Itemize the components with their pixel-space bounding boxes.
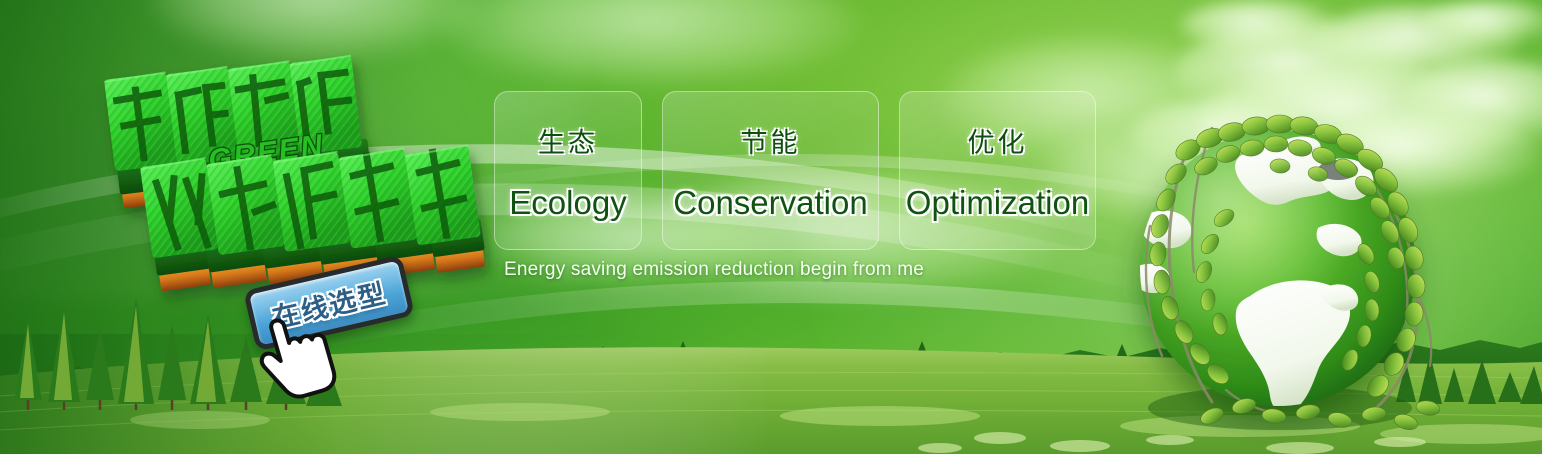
feature-card-optimization-cn: 优化 [968, 121, 1028, 160]
feature-card-ecology-cn: 生态 [538, 121, 598, 160]
feature-card-ecology[interactable]: 生态 Ecology [494, 91, 642, 250]
headline-3d-artwork: GREEN [96, 34, 496, 284]
leafy-green-globe-icon [1128, 108, 1458, 438]
feature-card-optimization-en: Optimization [906, 184, 1089, 222]
feature-card-ecology-en: Ecology [509, 184, 626, 222]
feature-card-conservation-cn: 节能 [741, 121, 801, 160]
feature-card-conservation[interactable]: 节能 Conservation [662, 91, 879, 250]
eco-promo-banner: GREEN [0, 0, 1542, 454]
feature-card-conservation-en: Conservation [673, 184, 867, 222]
feature-card-optimization[interactable]: 优化 Optimization [899, 91, 1096, 250]
feature-cards: 生态 Ecology 节能 Conservation 优化 Optimizati… [494, 91, 1096, 250]
online-selection-cta[interactable]: 在线选型 [248, 272, 433, 387]
pointing-hand-cursor-icon [252, 308, 344, 404]
tagline: Energy saving emission reduction begin f… [504, 259, 924, 281]
